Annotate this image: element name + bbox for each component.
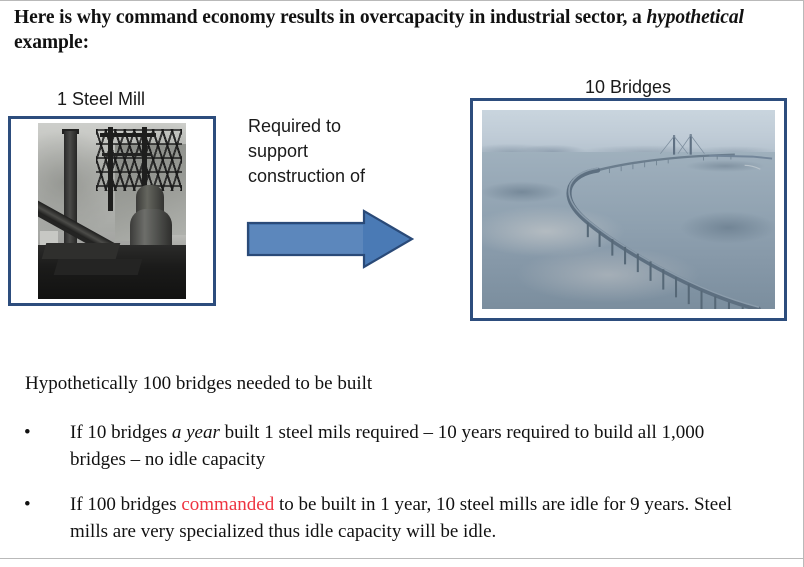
steel-mill-image-content	[38, 123, 186, 299]
body-intro-text: Hypothetically 100 bridges needed to be …	[25, 371, 372, 396]
bullet-item-2: • If 100 bridges commanded to be built i…	[24, 491, 764, 545]
caption-steel-mill: 1 Steel Mill	[57, 89, 145, 110]
bottom-divider	[0, 558, 804, 559]
bridge-towers	[660, 134, 704, 154]
connector-label: Required to support construction of	[248, 114, 398, 189]
page-title: Here is why command economy results in o…	[14, 5, 774, 55]
right-arrow-svg	[246, 209, 414, 269]
bullet-1-segment-1: If 10 bridges	[70, 422, 172, 443]
steel-mill-base-step-2	[54, 259, 143, 275]
title-part-1: Here is why command economy results in o…	[14, 7, 646, 28]
bullet-marker: •	[24, 419, 70, 446]
steel-mill-tower-left	[108, 127, 113, 211]
steel-mill-photo	[15, 123, 209, 299]
bullet-text-1: If 10 bridges a year built 1 steel mils …	[70, 419, 764, 473]
caption-bridges: 10 Bridges	[585, 77, 671, 98]
steel-mill-base-step-1	[42, 243, 121, 259]
bridge-photo	[482, 110, 775, 309]
bullet-2-highlight-commanded: commanded	[181, 494, 274, 515]
slide-canvas: Here is why command economy results in o…	[0, 0, 804, 567]
bullet-1-segment-2: a year	[172, 422, 220, 443]
right-arrow-icon	[246, 209, 414, 269]
bridge-far-deck	[598, 155, 735, 171]
arrow-highlight	[250, 224, 363, 254]
bridge-image-content	[482, 110, 775, 309]
bridge-boat-wake	[745, 165, 761, 169]
image-frame-bridge	[470, 98, 787, 321]
bridge-cables	[660, 135, 704, 153]
bullet-marker: •	[24, 491, 70, 518]
bridge-far-deck-extension	[709, 156, 772, 159]
bullet-text-2: If 100 bridges commanded to be built in …	[70, 491, 764, 545]
title-emphasis: hypothetical	[646, 7, 743, 28]
image-frame-steel-mill	[8, 116, 216, 306]
bullet-item-1: • If 10 bridges a year built 1 steel mil…	[24, 419, 764, 473]
title-part-2: example:	[14, 32, 89, 53]
bridge-structure-svg	[482, 110, 775, 309]
bullet-2-segment-1: If 100 bridges	[70, 494, 181, 515]
